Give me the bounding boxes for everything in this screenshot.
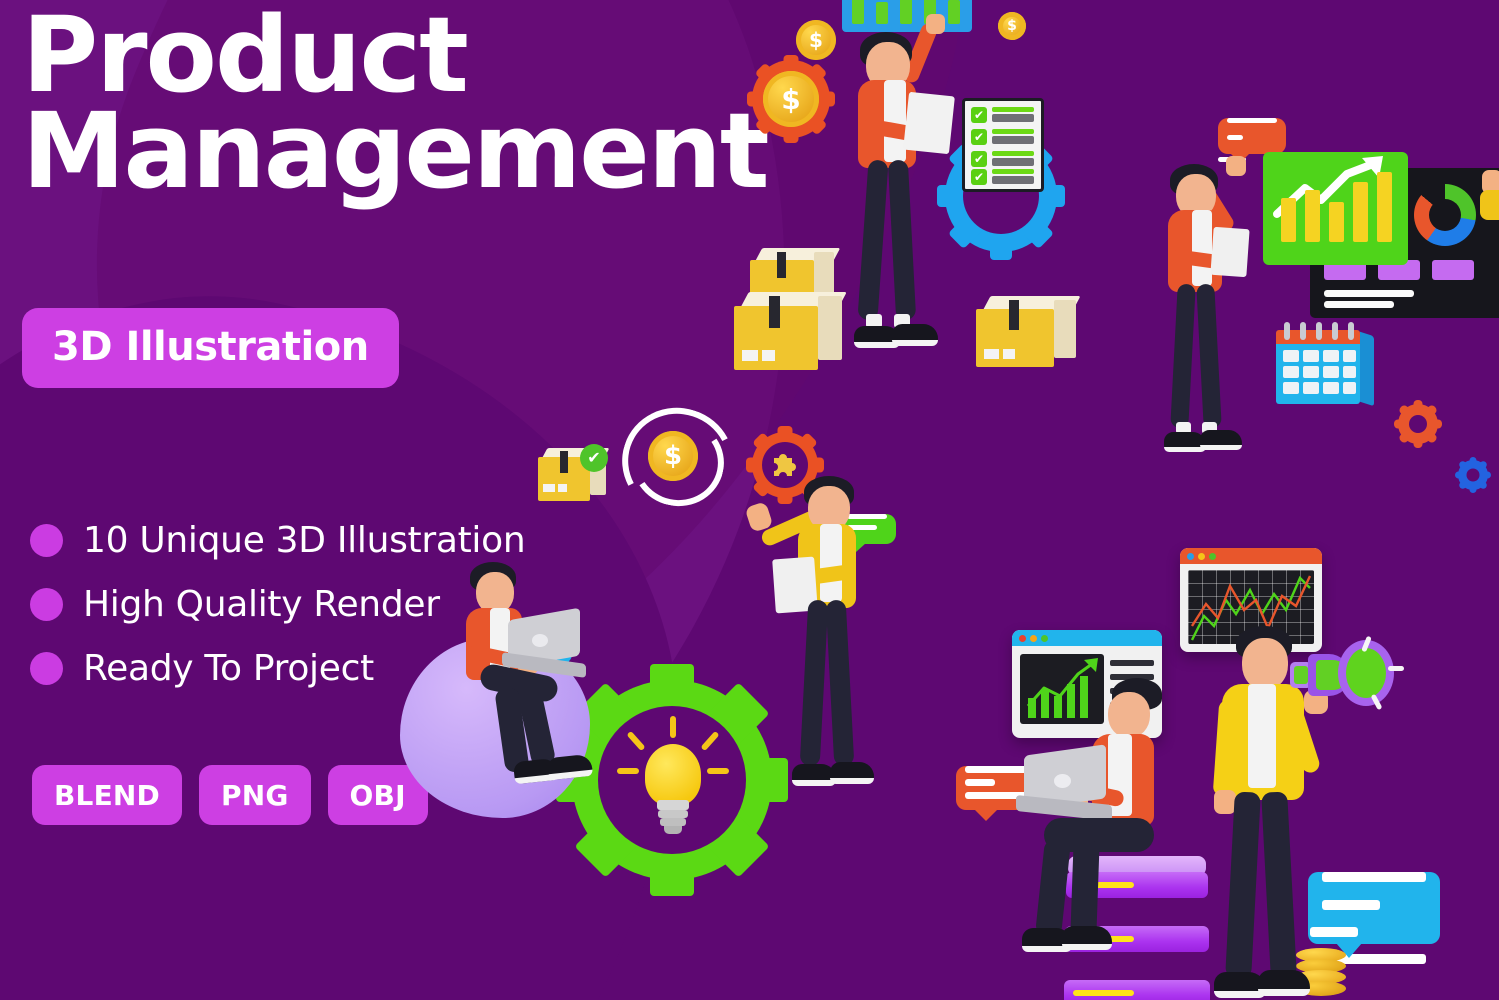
lightbulb-icon [617,716,727,852]
format-badge-group: BLEND PNG OBJ [32,765,428,825]
window-dot-red [1187,553,1194,560]
bullet-dot-icon [30,588,63,621]
paper-document-icon [1210,227,1249,277]
donut-chart-icon [1414,184,1476,246]
pointing-hand-icon [1480,170,1499,216]
megaphone-icon [1290,638,1396,712]
window-dot-red [1019,635,1026,642]
page-title: ProductManagement [22,8,768,199]
package-with-check-icon: ✔ [538,454,608,510]
dollar-coin-target-icon: $ [622,408,726,508]
headline-line-2: Management [22,104,768,200]
illustration-checklist-scene: $ $ $ ✔ ✔ ✔ [730,0,1110,380]
dollar-coin-icon: $ [796,20,836,60]
green-growth-chart-panel [1263,152,1408,265]
orange-gear-icon [1398,404,1438,444]
standing-man-character [1164,158,1274,458]
laptop-icon [1016,750,1112,824]
standing-man-with-paper [730,472,870,802]
standing-man-character [850,18,980,368]
poster-canvas: ProductManagement 3D Illustration 10 Uni… [0,0,1499,1000]
illustration-dashboard-scene [1150,100,1499,470]
puzzle-piece-icon [768,448,802,482]
illustration-idea-scene: ✔ $ [400,410,920,830]
subtitle-badge: 3D Illustration [22,308,399,388]
small-dollar-coin-icon: $ [998,12,1026,40]
bullet-dot-icon [30,524,63,557]
illustration-data-scene [940,520,1499,1000]
window-dot-green [1209,553,1216,560]
orange-chat-bubble-icon [1218,118,1286,154]
feature-label: High Quality Render [83,584,440,625]
blue-gear-icon [1458,460,1488,490]
check-badge-icon: ✔ [580,444,608,472]
bullet-dot-icon [30,652,63,685]
window-dot-yellow [1030,635,1037,642]
feature-label: Ready To Project [83,648,374,689]
man-with-laptop-on-servers [1016,678,1196,998]
window-dot-green [1041,635,1048,642]
paper-document-icon [903,92,955,154]
cardboard-box-icon [734,302,842,372]
standing-man-with-megaphone [1196,620,1386,1000]
calendar-icon [1276,322,1374,408]
orange-gear-with-coin-icon: $ [752,60,830,138]
window-dot-yellow [1198,553,1205,560]
cardboard-box-icon [976,305,1076,369]
checklist-clipboard-icon: ✔ ✔ ✔ ✔ [962,98,1044,192]
format-badge-blend: BLEND [32,765,182,825]
format-badge-png: PNG [199,765,311,825]
